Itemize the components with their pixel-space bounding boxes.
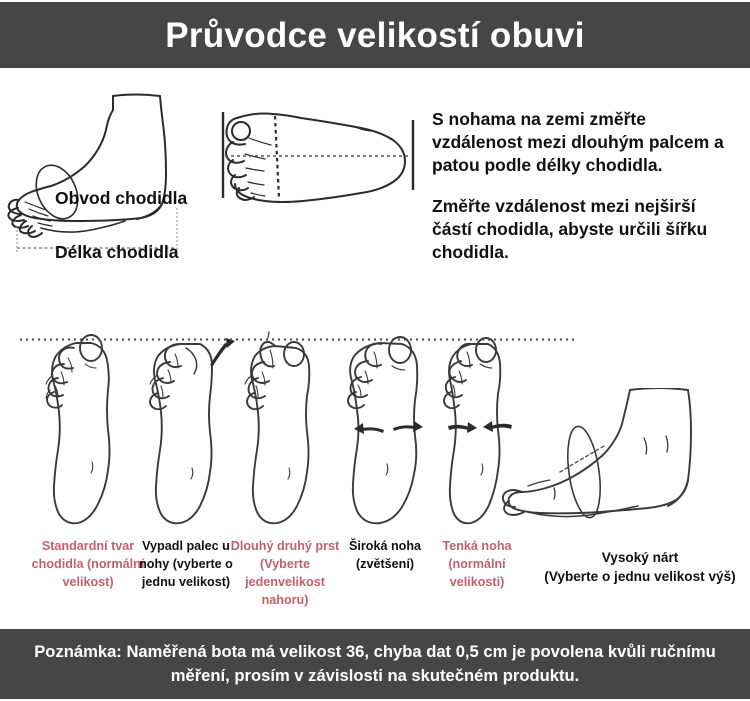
toe-alignment-dotted-line (18, 338, 576, 341)
side-view-foot-diagram: Obvod chodidla Délka chodidla (5, 88, 210, 263)
caption-standard: Standardní tvar chodidla (normální velik… (28, 538, 148, 592)
side-foot-illustration (5, 88, 210, 263)
caption-dropped-toe: Vypadl palec u nohy (vyberte o jednu vel… (132, 538, 240, 592)
foot-shape-high-arch (498, 388, 746, 538)
footer-note: Poznámka: Naměřená bota má velikost 36, … (22, 640, 728, 688)
instruction-paragraph-2: Změřte vzdálenost mezi nejširší částí ch… (432, 195, 737, 264)
caption-wide-foot: Široká noha (zvětšení) (332, 538, 438, 574)
instruction-paragraph-1: S nohama na zemi změřte vzdálenost mezi … (432, 108, 737, 177)
high-arch-foot-illustration (498, 388, 746, 538)
foot-shape-long-second-toe (228, 318, 346, 536)
top-foot-illustration (215, 98, 420, 228)
foot-circumference-label: Obvod chodidla (55, 188, 187, 209)
foot-length-label: Délka chodidla (55, 242, 179, 263)
long-second-toe-foot-illustration (228, 318, 346, 536)
size-guide-page: Průvodce velikostí obuvi (0, 0, 750, 701)
caption-high-arch-line2: (Vyberte o jednu velikost výš) (540, 567, 740, 586)
page-title: Průvodce velikostí obuvi (165, 18, 585, 53)
page-footer: Poznámka: Naměřená bota má velikost 36, … (0, 629, 750, 699)
instructions-block: S nohama na zemi změřte vzdálenost mezi … (432, 108, 737, 264)
caption-high-arch-line1: Vysoký nárt (540, 548, 740, 567)
foot-shapes-row (0, 318, 750, 536)
page-header: Průvodce velikostí obuvi (0, 2, 750, 68)
measurement-section: Obvod chodidla Délka chodidla (0, 68, 750, 318)
caption-high-arch: Vysoký nárt (Vyberte o jednu velikost vý… (540, 548, 740, 587)
caption-long-second-toe: Dlouhý druhý prst (Vyberte jedenvelikost… (228, 538, 342, 610)
caption-thin-foot: Tenká noha (normální velikosti) (424, 538, 530, 592)
top-view-foot-diagram (215, 98, 420, 228)
foot-shape-captions: Standardní tvar chodidla (normální velik… (0, 538, 750, 623)
standard-foot-illustration (28, 318, 146, 536)
foot-shape-standard (28, 318, 146, 536)
widening-arrows-icon (354, 421, 423, 434)
width-dimension-line (275, 116, 279, 198)
